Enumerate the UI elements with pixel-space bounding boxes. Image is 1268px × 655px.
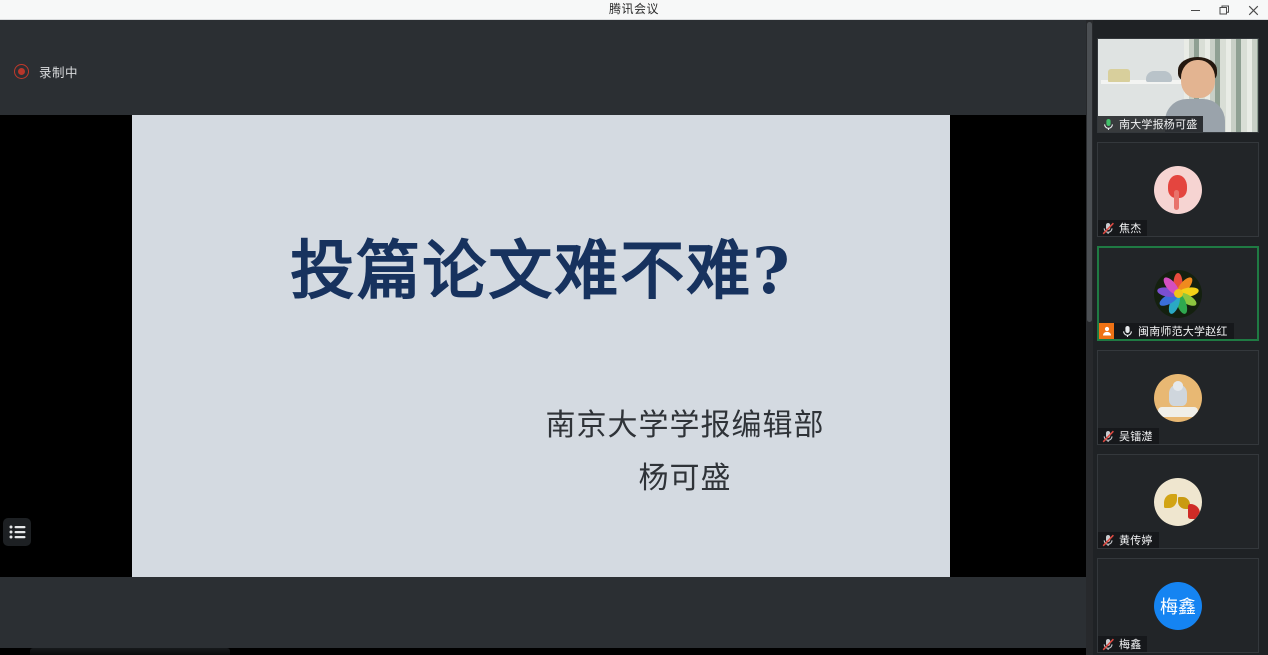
microphone-muted-icon <box>1101 221 1115 235</box>
participant-name: 吴镭濋 <box>1119 428 1153 444</box>
meeting-toolbar-sliver[interactable] <box>0 648 1086 655</box>
minimize-icon <box>1190 5 1201 16</box>
microphone-icon <box>1101 117 1115 131</box>
avatar: 梅鑫 <box>1154 582 1202 630</box>
participant-tile[interactable]: 南大学报杨可盛 <box>1097 38 1259 133</box>
flower-graphic <box>1155 271 1201 317</box>
participant-name-bar: 黄传婷 <box>1098 532 1159 548</box>
participant-tile[interactable]: 黄传婷 <box>1097 454 1259 549</box>
microphone-icon <box>1120 324 1134 338</box>
minimize-button[interactable] <box>1181 0 1210 20</box>
presentation-slide: 投篇论文难不难? 南京大学学报编辑部 杨可盛 <box>132 115 950 577</box>
participant-tile[interactable]: 吴镭濋 <box>1097 350 1259 445</box>
slide-subtitle-line-1: 南京大学学报编辑部 <box>475 399 895 452</box>
participant-name: 南大学报杨可盛 <box>1119 116 1197 132</box>
slide-subtitle-line-2: 杨可盛 <box>475 452 895 505</box>
participant-name: 闽南师范大学赵红 <box>1138 323 1228 339</box>
participant-name: 黄传婷 <box>1119 532 1153 548</box>
close-button[interactable] <box>1239 0 1268 20</box>
recording-label: 录制中 <box>39 62 78 81</box>
slide-title: 投篇论文难不难? <box>132 220 950 312</box>
tencent-meeting-window: 腾讯会议 <box>0 0 1268 655</box>
avatar <box>1154 270 1202 318</box>
window-title: 腾讯会议 <box>609 0 659 19</box>
microphone-muted-icon <box>1101 429 1115 443</box>
participant-name-bar: 吴镭濋 <box>1098 428 1159 444</box>
title-bar: 腾讯会议 <box>0 0 1268 20</box>
avatar <box>1154 166 1202 214</box>
participant-name-bar: 梅鑫 <box>1098 636 1147 652</box>
sidebar-scrollbar-thumb[interactable] <box>1087 22 1092 322</box>
participant-name-bar: 焦杰 <box>1098 220 1147 236</box>
sidebar-scrollbar[interactable] <box>1086 20 1093 655</box>
shared-screen-stage: 录制中 投篇论文难不难? 南京大学学报编辑部 杨可盛 <box>0 20 1086 655</box>
participant-tile-active-speaker[interactable]: 闽南师范大学赵红 <box>1097 246 1259 341</box>
restore-icon <box>1219 5 1230 16</box>
avatar <box>1154 374 1202 422</box>
avatar <box>1154 478 1202 526</box>
participant-tile[interactable]: 焦杰 <box>1097 142 1259 237</box>
list-icon <box>9 525 26 539</box>
participant-tile[interactable]: 梅鑫 梅鑫 <box>1097 558 1259 653</box>
participant-sidebar: 南大学报杨可盛 焦杰 <box>1086 20 1268 655</box>
record-dot-icon <box>14 64 29 79</box>
host-person-icon <box>1099 323 1114 339</box>
participant-name-bar: 南大学报杨可盛 <box>1098 116 1203 132</box>
stage-top-bar <box>0 20 1086 115</box>
participant-name: 焦杰 <box>1119 220 1141 236</box>
microphone-muted-icon <box>1101 533 1115 547</box>
participant-name: 梅鑫 <box>1119 636 1141 652</box>
participants-list-button[interactable] <box>3 518 31 546</box>
slide-subtitle-block: 南京大学学报编辑部 杨可盛 <box>475 399 895 506</box>
microphone-muted-icon <box>1101 637 1115 651</box>
close-icon <box>1248 5 1259 16</box>
stage-bottom-bar <box>0 577 1086 655</box>
restore-button[interactable] <box>1210 0 1239 20</box>
recording-indicator: 录制中 <box>14 62 78 81</box>
participant-name-bar: 闽南师范大学赵红 <box>1099 323 1234 339</box>
window-controls <box>1181 0 1268 20</box>
